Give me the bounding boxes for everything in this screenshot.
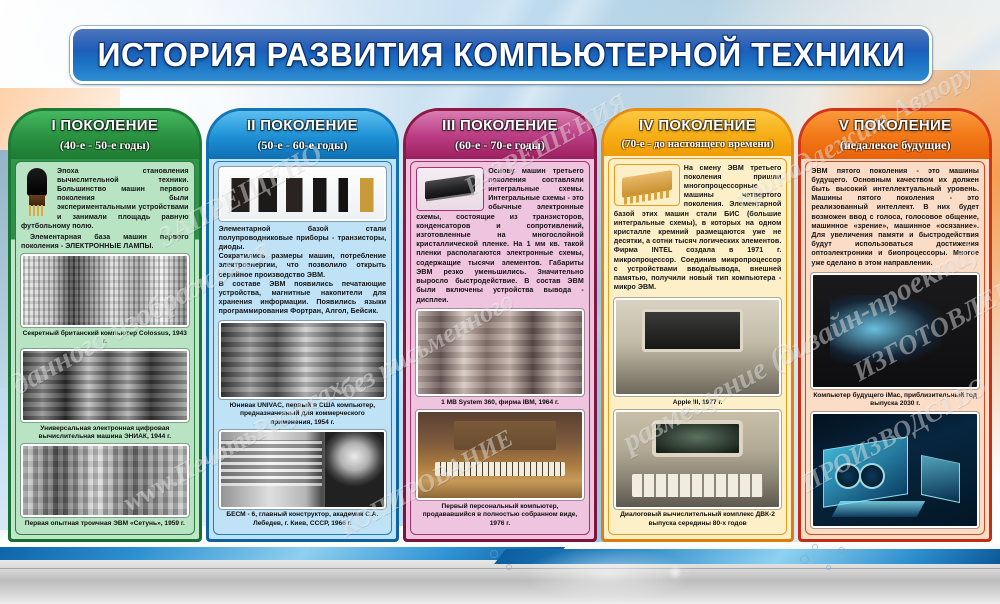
photo-caption-dvk-2: Диалоговый вычислительный комплекс ДВК-2…: [615, 511, 781, 528]
generation-panel-2: II ПОКОЛЕНИЕ (50-е - 60-е годы) Элемента…: [206, 108, 400, 542]
generation-panel-1: I ПОКОЛЕНИЕ (40-е - 50-е годы) Эпоха ста…: [8, 108, 202, 542]
photo-dvk-2: [614, 410, 782, 509]
panel-body-4: На смену ЭВМ третьего поколения пришли м…: [608, 158, 788, 536]
photo-imac-future: [811, 273, 979, 389]
bubble-icon: [800, 555, 809, 564]
photo-apple-iii: [614, 298, 782, 397]
bubble-icon: [838, 547, 845, 554]
photo-caption-univac: Юнивак UNIVAC, первый в США компьютер, п…: [220, 402, 386, 427]
panel-body-3: Основу машин третьего поколения составля…: [410, 161, 590, 536]
panel-header-4: IV ПОКОЛЕНИЕ (70-е - до настоящего време…: [604, 111, 792, 156]
photo-caption-setun: Первая опытная троичная ЭВМ «Сетунь», 19…: [22, 520, 188, 528]
panel-title-4: IV ПОКОЛЕНИЕ: [608, 118, 788, 135]
bubble-icon: [826, 565, 831, 570]
photo-caption-eniac: Универсальная электронная цифровая вычис…: [22, 425, 188, 442]
panel-header-1: I ПОКОЛЕНИЕ (40-е - 50-е годы): [11, 111, 199, 159]
panel-body-1: Эпоха становления вычислительной техники…: [15, 161, 195, 536]
photo-caption-besm6: БЕСМ - 6, главный конструктор, академик …: [220, 511, 386, 528]
panel-title-1: I ПОКОЛЕНИЕ: [15, 118, 195, 135]
panel-header-3: III ПОКОЛЕНИЕ (60-е - 70-е годы): [406, 111, 594, 159]
bubble-icon: [490, 550, 498, 558]
panel-subtitle-5: (недалекое будущие): [805, 138, 985, 153]
photo-univac: [219, 321, 387, 400]
panel-subtitle-2: (50-е - 60-е годы): [213, 138, 393, 153]
panel-body-2: Элементарной базой стали полупроводников…: [213, 161, 393, 536]
panel-header-2: II ПОКОЛЕНИЕ (50-е - 60-е годы): [209, 111, 397, 159]
photo-eniac: [21, 349, 189, 422]
panel-paragraph-2-3: В составе ЭВМ появились печатающие устро…: [219, 280, 387, 317]
vacuum-tube-icon: [21, 167, 53, 217]
poster-root: ИСТОРИЯ РАЗВИТИЯ КОМПЬЮТЕРНОЙ ТЕХНИКИ I …: [0, 0, 1000, 604]
panel-title-5: V ПОКОЛЕНИЕ: [805, 118, 985, 135]
generation-panel-5: V ПОКОЛЕНИЕ (недалекое будущие) ЭВМ пято…: [798, 108, 992, 542]
panel-paragraph-2-1: Элементарной базой стали полупроводников…: [219, 225, 387, 253]
photo-caption-colossus: Секретный британский компьютер Colossus,…: [22, 330, 188, 347]
photo-transistors: [219, 167, 387, 221]
integrated-circuit-icon: [416, 167, 484, 211]
fish-graphic: [440, 538, 860, 604]
photo-caption-imac-future: Компьютер будущего iMac, приблизительный…: [812, 392, 978, 409]
generations-columns: I ПОКОЛЕНИЕ (40-е - 50-е годы) Эпоха ста…: [8, 108, 992, 542]
photo-caption-apple-1: Первый персональный компьютер, продававш…: [417, 503, 583, 528]
photo-setun: [21, 444, 189, 517]
photo-colossus: [21, 254, 189, 327]
bubble-icon: [506, 564, 512, 570]
lsi-chip-icon: [614, 164, 680, 206]
panel-body-5: ЭВМ пятого поколения - это машины будуще…: [805, 161, 985, 536]
generation-panel-4: IV ПОКОЛЕНИЕ (70-е - до настоящего време…: [601, 108, 795, 542]
panel-paragraph-2-2: Сократились размеры машин, потребление э…: [219, 252, 387, 280]
poster-title-bar: ИСТОРИЯ РАЗВИТИЯ КОМПЬЮТЕРНОЙ ТЕХНИКИ: [70, 26, 932, 84]
panel-paragraph-1-2: Элементарная база машин первого поколени…: [21, 233, 189, 251]
panel-title-3: III ПОКОЛЕНИЕ: [410, 118, 590, 135]
panel-header-5: V ПОКОЛЕНИЕ (недалекое будущие): [801, 111, 989, 159]
generation-panel-3: III ПОКОЛЕНИЕ (60-е - 70-е годы) Основу …: [403, 108, 597, 542]
photo-future-workstation: [811, 412, 979, 528]
photo-besm6: [219, 430, 387, 509]
page-title: ИСТОРИЯ РАЗВИТИЯ КОМПЬЮТЕРНОЙ ТЕХНИКИ: [97, 36, 905, 74]
panel-paragraph-5-1: ЭВМ пятого поколения - это машины будуще…: [811, 167, 979, 268]
photo-caption-apple-iii: Apple III, 1977 г.: [615, 399, 781, 407]
photo-ibm-system-360: [416, 309, 584, 396]
photo-caption-ibm-system-360: 1 MB System 360, фирма IBM, 1964 г.: [417, 399, 583, 407]
panel-subtitle-3: (60-е - 70-е годы): [410, 138, 590, 153]
panel-subtitle-4: (70-е - до настоящего времени): [608, 138, 788, 150]
panel-title-2: II ПОКОЛЕНИЕ: [213, 118, 393, 135]
bubble-icon: [812, 544, 818, 550]
panel-subtitle-1: (40-е - 50-е годы): [15, 138, 195, 153]
photo-apple-1: [416, 410, 584, 500]
